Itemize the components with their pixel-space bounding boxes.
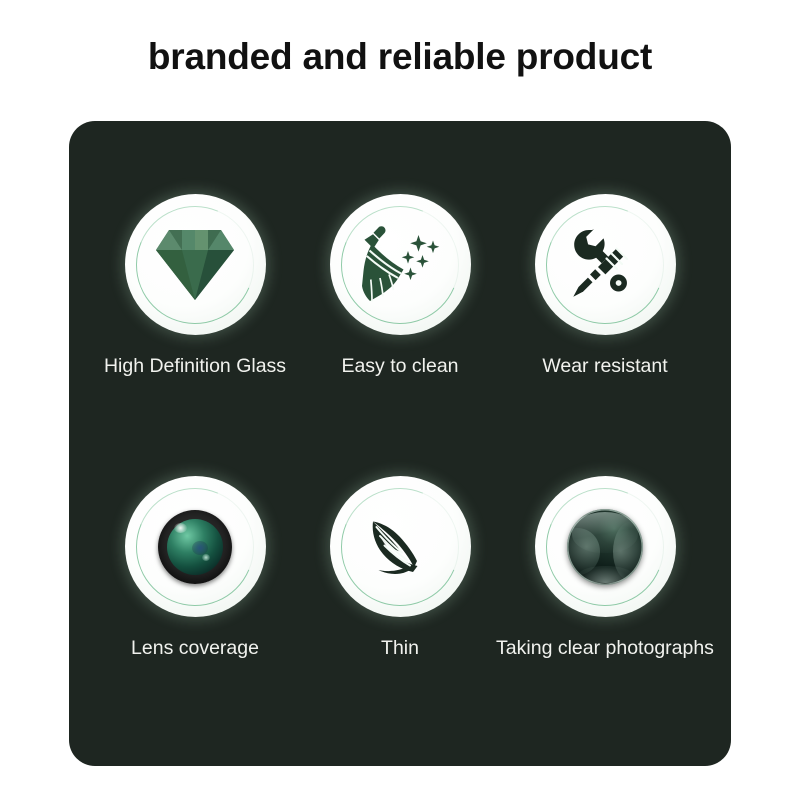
feature-easy-to-clean[interactable]: Easy to clean [297, 194, 503, 378]
feature-label: Easy to clean [297, 354, 503, 378]
product-feature-infographic: branded and reliable product [0, 0, 800, 800]
feature-label: Wear resistant [502, 354, 708, 378]
feature-high-definition-glass[interactable]: High Definition Glass [92, 194, 298, 378]
lens-highlight-secondary [202, 554, 210, 561]
feature-badge [330, 194, 471, 335]
feature-label: Lens coverage [92, 636, 298, 660]
feature-label: High Definition Glass [92, 354, 298, 378]
feature-badge [535, 476, 676, 617]
feature-lens-coverage[interactable]: Lens coverage [92, 476, 298, 660]
camera-lens-icon [153, 505, 237, 589]
feature-taking-clear-photographs[interactable]: Taking clear photographs [502, 476, 708, 660]
features-panel: High Definition Glass [69, 121, 731, 766]
diamond-icon [153, 223, 237, 307]
glossy-dome [567, 509, 643, 585]
glossy-dome-icon [563, 505, 647, 589]
feature-badge [535, 194, 676, 335]
feature-label: Thin [297, 636, 503, 660]
page-title: branded and reliable product [0, 34, 800, 80]
dome-base-highlight [579, 566, 632, 583]
feature-label: Taking clear photographs [485, 636, 725, 660]
wrench-screwdriver-icon [563, 223, 647, 307]
feature-grid: High Definition Glass [69, 121, 731, 766]
feature-badge [125, 476, 266, 617]
feather-icon [358, 505, 442, 589]
broom-sparkle-icon [358, 223, 442, 307]
feature-badge [125, 194, 266, 335]
camera-lens-barrel [158, 510, 232, 584]
feature-thin[interactable]: Thin [297, 476, 503, 660]
feature-badge [330, 476, 471, 617]
lens-highlight-primary [174, 523, 187, 533]
feature-wear-resistant[interactable]: Wear resistant [502, 194, 708, 378]
